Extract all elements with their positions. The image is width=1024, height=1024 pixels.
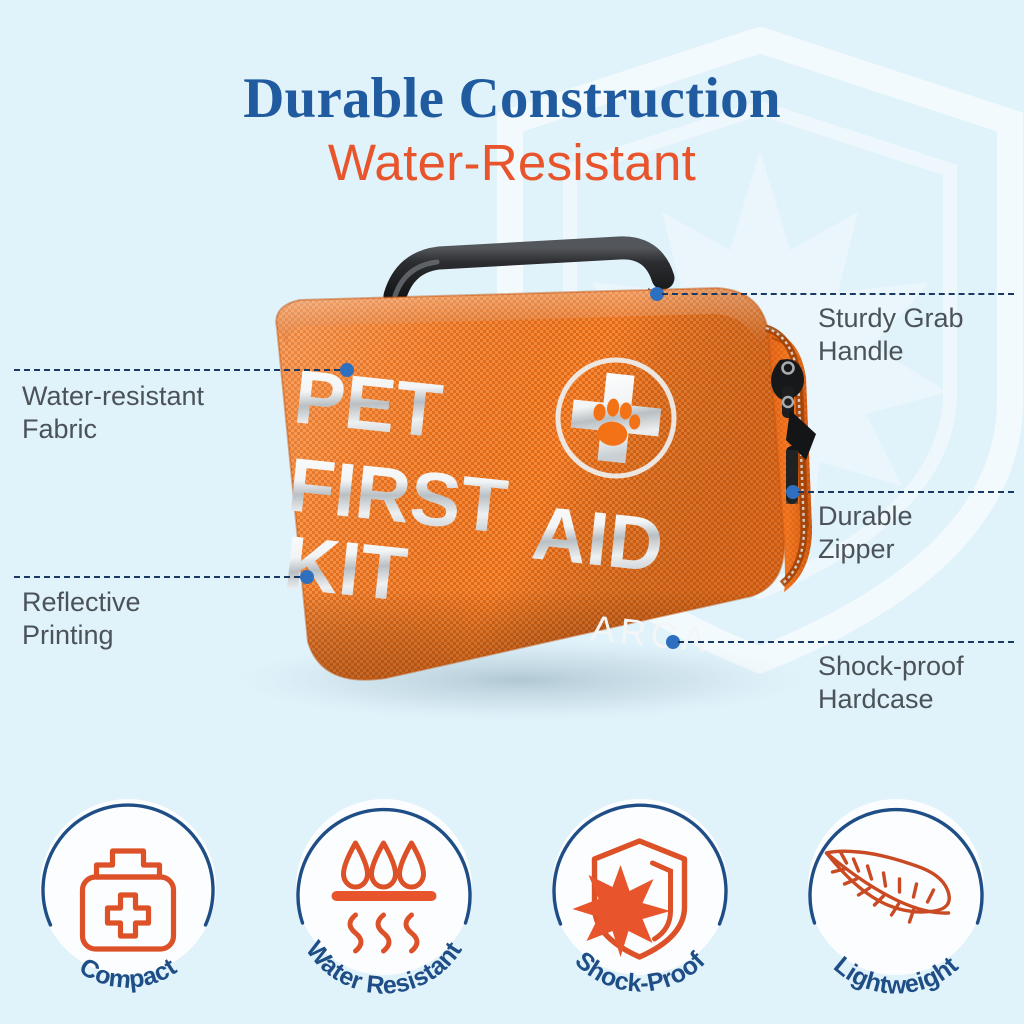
callout-label: Water-resistant Fabric: [22, 380, 302, 446]
lead-water-resistant-fabric: [14, 363, 354, 377]
lead-durable-zipper: [786, 485, 1014, 499]
badge-ring: [43, 805, 213, 925]
badge-shock-proof[interactable]: Shock-Proof: [533, 795, 748, 1010]
header-block: Durable Construction Water-Resistant: [0, 68, 1024, 191]
callout-label: Durable Zipper: [818, 500, 1018, 566]
badge-label: Compact: [75, 953, 182, 995]
callout-sturdy-grab-handle: Sturdy Grab Handle: [818, 302, 1018, 368]
lead-sturdy-grab-handle: [650, 287, 1014, 301]
feather-icon: [827, 851, 950, 922]
first-aid-case-icon: [83, 851, 174, 949]
badge-label: Lightweight: [828, 951, 964, 1000]
lead-shock-proof-hardcase: [666, 635, 1014, 649]
lead-reflective-printing: [14, 570, 314, 584]
callout-shock-proof-hardcase: Shock-proof Hardcase: [818, 650, 1018, 716]
badge-water-resistant[interactable]: Water Resistant: [277, 795, 492, 1010]
callout-water-resistant-fabric: Water-resistant Fabric: [22, 380, 302, 446]
shield-impact-icon: [573, 841, 685, 957]
lead-dot: [340, 363, 354, 377]
feature-badge-row: Compact Water: [0, 795, 1024, 1010]
page-title: Durable Construction: [0, 68, 1024, 130]
callout-reflective-printing: Reflective Printing: [22, 586, 282, 652]
badge-lightweight[interactable]: Lightweight: [789, 795, 1004, 1010]
badge-compact[interactable]: Compact: [21, 795, 236, 1010]
page-subtitle: Water-Resistant: [0, 134, 1024, 191]
callout-durable-zipper: Durable Zipper: [818, 500, 1018, 566]
badge-label: Water Resistant: [300, 936, 468, 1000]
svg-text:AID: AID: [528, 490, 667, 588]
callout-label: Shock-proof Hardcase: [818, 650, 1018, 716]
callout-label: Reflective Printing: [22, 586, 282, 652]
lead-dot: [300, 570, 314, 584]
callout-label: Sturdy Grab Handle: [818, 302, 1018, 368]
badge-ring: [298, 810, 470, 923]
water-droplets-icon: [332, 843, 437, 951]
